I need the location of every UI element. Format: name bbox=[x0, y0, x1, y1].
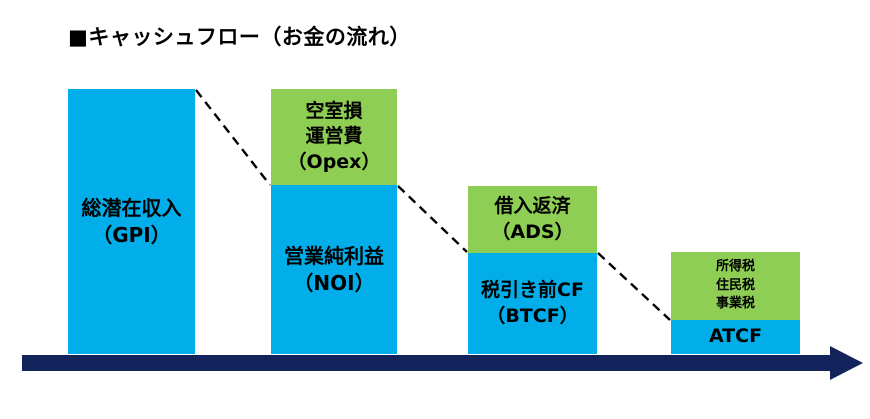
bar-label-gpi-line1: 総潜在収入 bbox=[82, 195, 182, 222]
bar-segment-noi-blue: 営業純利益 （NOI） bbox=[271, 185, 397, 354]
bar-label-tax-line3: 事業税 bbox=[716, 295, 755, 313]
bar-segment-gpi-blue: 総潜在収入 （GPI） bbox=[68, 89, 195, 354]
bar-label-btcf-line2: （BTCF） bbox=[486, 304, 578, 329]
bar-segment-opex-green: 空室損 運営費 （Opex） bbox=[271, 89, 397, 185]
bar-segment-tax-green: 所得税 住民税 事業税 bbox=[671, 252, 800, 320]
dashed-connector-line-2 bbox=[398, 186, 467, 252]
bar-label-btcf-line1: 税引き前CF bbox=[481, 278, 584, 303]
cashflow-waterfall-chart: ■キャッシュフロー（お金の流れ） 総潜在収入 （GPI） 空室損 運営費 （Op… bbox=[0, 0, 870, 419]
page-title: ■キャッシュフロー（お金の流れ） bbox=[68, 25, 411, 50]
bar-label-noi-line1: 営業純利益 bbox=[284, 243, 384, 270]
bar-label-opex-line1: 空室損 bbox=[305, 99, 362, 124]
bar-label-noi-line2: （NOI） bbox=[293, 270, 374, 297]
bar-label-tax-line1: 所得税 bbox=[716, 258, 755, 276]
bar-column-opex: 空室損 運営費 （Opex） 営業純利益 （NOI） bbox=[271, 89, 397, 354]
dashed-connector-line-3 bbox=[598, 253, 670, 320]
bar-label-ads-line1: 借入返済 bbox=[494, 194, 570, 219]
bar-label-gpi-line2: （GPI） bbox=[92, 222, 171, 249]
dashed-connector-line-1 bbox=[196, 90, 270, 185]
bar-column-gpi: 総潜在収入 （GPI） bbox=[68, 89, 195, 354]
bar-column-tax: 所得税 住民税 事業税 ATCF bbox=[671, 252, 800, 354]
bar-label-opex-line3: （Opex） bbox=[288, 150, 381, 175]
baseline-axis-arrow bbox=[0, 344, 870, 392]
right-arrow-icon bbox=[22, 346, 863, 380]
bar-segment-btcf-blue: 税引き前CF （BTCF） bbox=[468, 253, 597, 354]
bar-column-ads: 借入返済 （ADS） 税引き前CF （BTCF） bbox=[468, 186, 597, 354]
bar-label-ads-line2: （ADS） bbox=[491, 220, 573, 245]
bar-label-opex-line2: 運営費 bbox=[305, 124, 362, 149]
bar-label-tax-line2: 住民税 bbox=[716, 277, 755, 295]
bar-segment-ads-green: 借入返済 （ADS） bbox=[468, 186, 597, 253]
